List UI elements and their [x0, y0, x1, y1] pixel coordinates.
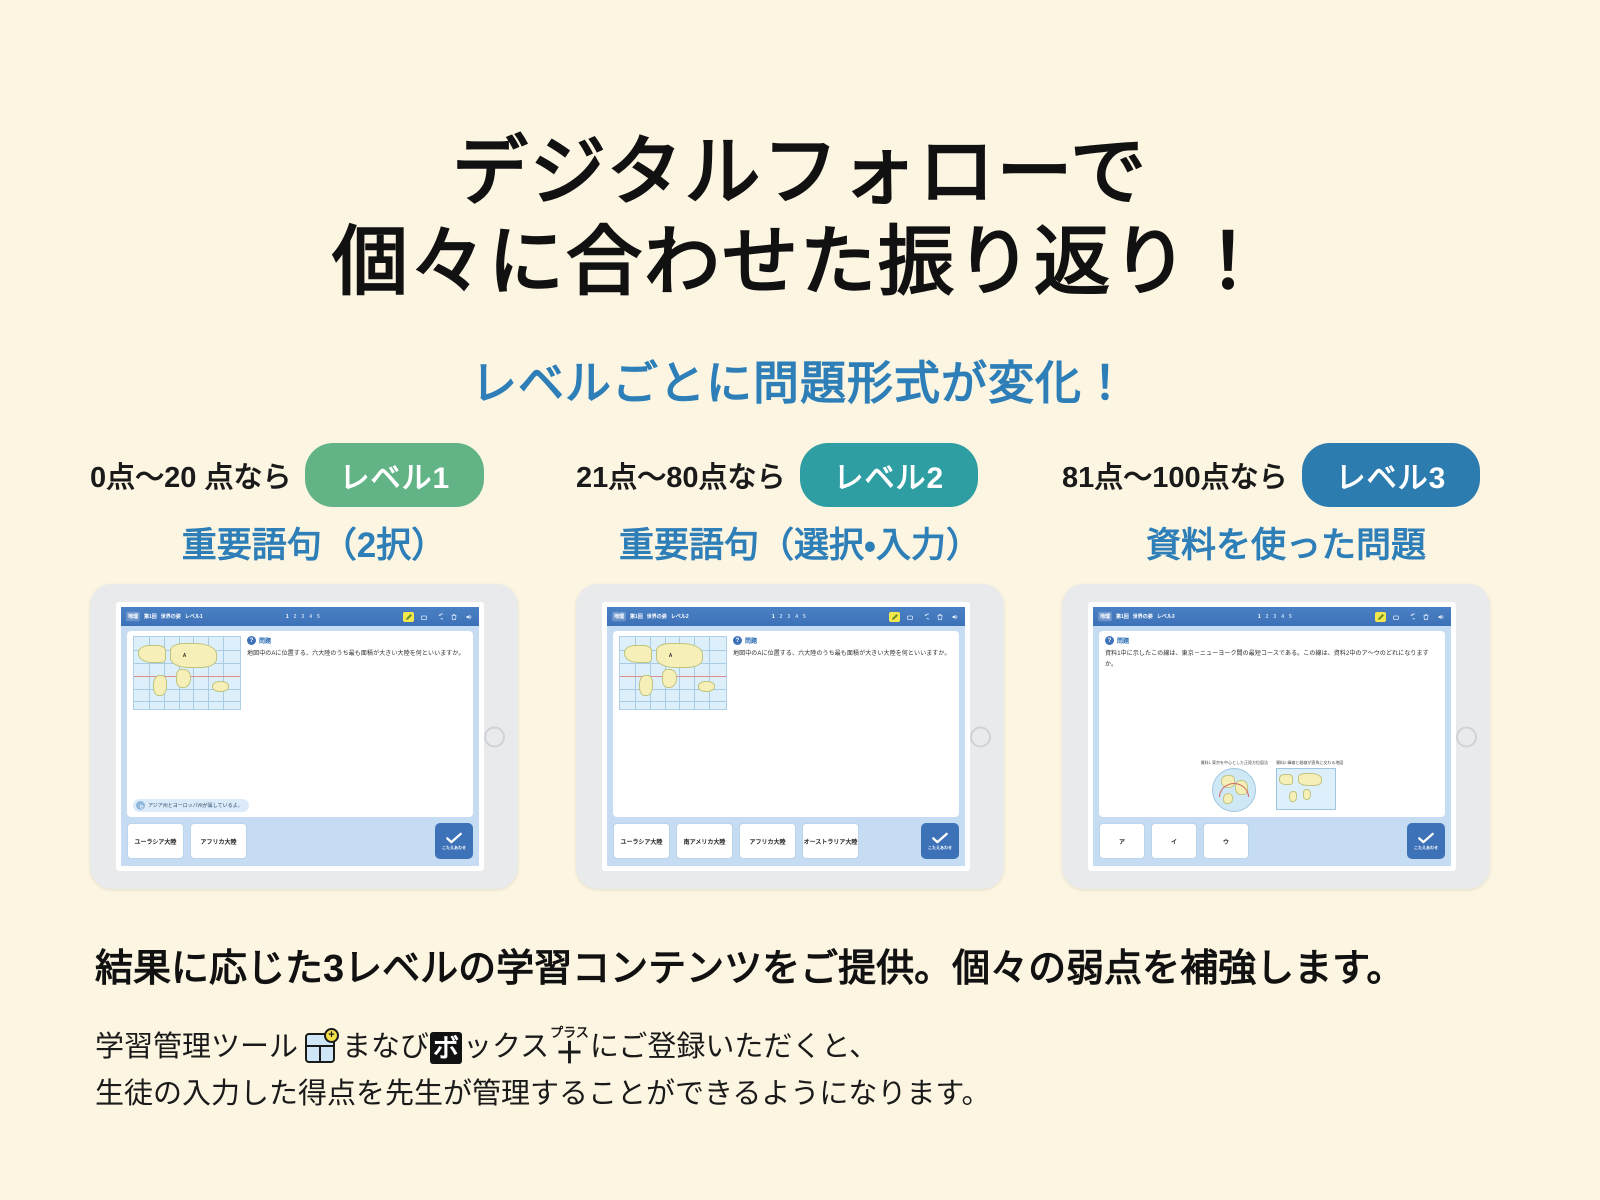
level-badge-row-1: 0点〜20 点なら レベル1: [90, 447, 538, 503]
brand-box-rest: ックス: [463, 1024, 549, 1071]
brand-box-initial: ボ: [430, 1032, 462, 1064]
toolbar-subject-1: 地理: [126, 612, 140, 621]
page-number[interactable]: 2: [294, 614, 297, 620]
answer-option[interactable]: オーストラリア大陸: [802, 823, 859, 859]
reference-figures-3: 資料1 東京を中心とした正距方位図法 資料2 緯線と経線が直角に交わる地図: [1105, 760, 1439, 812]
toolbar-chapter-3: 世界の姿: [1133, 613, 1153, 620]
submit-answer-button-2[interactable]: こたえあわせ: [921, 823, 959, 859]
summary-statement: 結果に応じた3レベルの学習コンテンツをご提供。個々の弱点を補強します。: [95, 937, 1600, 992]
answer-option[interactable]: ウ: [1203, 823, 1249, 859]
level-badge-2: レベル2: [800, 443, 979, 507]
page-subtitle: レベルごとに問題形式が変化！: [0, 347, 1600, 413]
hand-icon: [136, 801, 145, 810]
world-map-figure-1: A: [133, 636, 241, 710]
level-badge-row-2: 21点〜80点なら レベル2: [576, 447, 1024, 503]
brand-plus: ＋: [555, 1040, 584, 1069]
tablet-screen-1: 地理 第1回 世界の姿 レベル1 1 2 3 4 5: [116, 602, 484, 871]
question-text-3: 資料1中に示したこの線は、東京－ニューヨーク間の最短コースである。この線は、資料…: [1105, 649, 1439, 670]
pen-icon[interactable]: [1375, 612, 1386, 622]
level-badge-1: レベル1: [305, 443, 484, 507]
submit-answer-button-3[interactable]: こたえあわせ: [1407, 823, 1445, 859]
page-number[interactable]: 4: [1281, 614, 1284, 620]
tablet-screen-3: 地理 第1回 世界の姿 レベル3 1 2 3 4 5: [1088, 602, 1456, 871]
brand-manabi: まなび: [342, 1024, 429, 1071]
question-text-1: 地図中のAに位置する、六大陸のうち最も面積が大きい大陸を何といいますか。: [247, 649, 467, 660]
note-text-before: 学習管理ツール: [95, 1024, 298, 1071]
eraser-icon[interactable]: [418, 612, 429, 622]
app-toolbar-1: 地理 第1回 世界の姿 レベル1 1 2 3 4 5: [121, 607, 479, 626]
map-point-label-1: A: [183, 653, 187, 659]
tablet-mockup-1: 地理 第1回 世界の姿 レベル1 1 2 3 4 5: [90, 584, 518, 889]
page-indicator-3[interactable]: 1 2 3 4 5: [1180, 614, 1370, 620]
question-label-2: 問題: [745, 636, 757, 645]
azimuthal-map-icon: [1212, 768, 1256, 812]
page-number[interactable]: 1: [286, 614, 289, 620]
registration-note: 学習管理ツール + まなび ボ ックス プラス ＋ にご登録いただくと、 生徒の…: [95, 1024, 1600, 1118]
question-board-3: ? 問題 資料1中に示したこの線は、東京－ニューヨーク間の最短コースである。この…: [1099, 631, 1445, 817]
hint-text-1: アジア州とヨーロッパ州が属しているよ。: [148, 802, 243, 809]
figure-caption-1: 資料1 東京を中心とした正距方位図法: [1201, 760, 1268, 766]
level-content-title-3: 資料を使った問題: [1062, 517, 1510, 568]
toolbar-subject-2: 地理: [612, 612, 626, 621]
page-number[interactable]: 3: [787, 614, 790, 620]
question-mark-icon: ?: [733, 636, 742, 645]
toolbar-level-1: レベル1: [185, 613, 203, 620]
registration-note-line-1: 学習管理ツール + まなび ボ ックス プラス ＋ にご登録いただくと、: [95, 1024, 1600, 1071]
world-map-figure-2: A: [619, 636, 727, 710]
page-indicator-2[interactable]: 1 2 3 4 5: [694, 614, 884, 620]
answer-option[interactable]: ユーラシア大陸: [127, 823, 184, 859]
page-number[interactable]: 3: [301, 614, 304, 620]
audio-icon[interactable]: [463, 612, 474, 622]
answer-option[interactable]: 南アメリカ大陸: [676, 823, 733, 859]
app-toolbar-3: 地理 第1回 世界の姿 レベル3 1 2 3 4 5: [1093, 607, 1451, 626]
answer-option[interactable]: イ: [1151, 823, 1197, 859]
pen-icon[interactable]: [403, 612, 414, 622]
toolbar-chapter-2: 世界の姿: [647, 613, 667, 620]
tablet-mockup-3: 地理 第1回 世界の姿 レベル3 1 2 3 4 5: [1062, 584, 1490, 889]
question-board-1: A ? 問題 地図中のAに位置する、六大陸のうち最も面積が大きい大陸を何といいま…: [127, 631, 473, 817]
page-title-line-1: デジタルフォローで: [0, 128, 1600, 218]
answer-option[interactable]: ア: [1099, 823, 1145, 859]
level-column-3: 81点〜100点なら レベル3 資料を使った問題 地理 第1回 世界の姿 レベル…: [1062, 447, 1510, 889]
page-number[interactable]: 5: [317, 614, 320, 620]
note-text-after: にご登録いただくと、: [590, 1024, 878, 1071]
page-number[interactable]: 5: [803, 614, 806, 620]
question-text-2: 地図中のAに位置する、六大陸のうち最も面積が大きい大陸を何といいますか。: [733, 649, 953, 660]
question-mark-icon: ?: [1105, 636, 1114, 645]
answer-options-2: ユーラシア大陸 南アメリカ大陸 アフリカ大陸 オーストラリア大陸 こたえあわせ: [607, 817, 965, 866]
toolbar-unit-1: 第1回: [144, 613, 157, 620]
manabi-box-icon: +: [303, 1031, 337, 1065]
toolbar-chapter-1: 世界の姿: [161, 613, 181, 620]
app-toolbar-2: 地理 第1回 世界の姿 レベル2 1 2 3 4 5: [607, 607, 965, 626]
submit-label-1: こたえあわせ: [442, 845, 466, 851]
answer-options-3: ア イ ウ こたえあわせ: [1093, 817, 1451, 866]
audio-icon[interactable]: [1435, 612, 1446, 622]
submit-label-2: こたえあわせ: [928, 845, 952, 851]
trash-icon[interactable]: [1420, 612, 1431, 622]
pen-icon[interactable]: [889, 612, 900, 622]
undo-icon[interactable]: [919, 612, 930, 622]
toolbar-subject-3: 地理: [1098, 612, 1112, 621]
audio-icon[interactable]: [949, 612, 960, 622]
figure-2: 資料2 緯線と経線が直角に交わる地図: [1276, 760, 1343, 812]
figure-1: 資料1 東京を中心とした正距方位図法: [1201, 760, 1268, 812]
check-icon: [931, 832, 949, 844]
mercator-map-icon: [1276, 768, 1336, 810]
question-board-2: A ? 問題 地図中のAに位置する、六大陸のうち最も面積が大きい大陸を何といいま…: [613, 631, 959, 817]
eraser-icon[interactable]: [1390, 612, 1401, 622]
score-range-label-3: 81点〜100点なら: [1062, 454, 1288, 496]
hint-bar-1: アジア州とヨーロッパ州が属しているよ。: [133, 799, 249, 812]
page-number[interactable]: 1: [1258, 614, 1261, 620]
registration-note-line-2: 生徒の入力した得点を先生が管理することができるようになります。: [95, 1071, 1600, 1118]
page-title-line-2: 個々に合わせた振り返り！: [0, 218, 1600, 308]
tablet-mockup-2: 地理 第1回 世界の姿 レベル2 1 2 3 4 5: [576, 584, 1004, 889]
level-content-title-2: 重要語句（選択・入力）: [576, 517, 1024, 568]
figure-caption-2: 資料2 緯線と経線が直角に交わる地図: [1276, 760, 1343, 766]
map-point-label-2: A: [669, 653, 673, 659]
trash-icon[interactable]: [934, 612, 945, 622]
page-number[interactable]: 2: [1266, 614, 1269, 620]
page-number[interactable]: 1: [772, 614, 775, 620]
score-range-label-2: 21点〜80点なら: [576, 454, 786, 496]
submit-label-3: こたえあわせ: [1414, 845, 1438, 851]
toolbar-level-3: レベル3: [1157, 613, 1175, 620]
page-number[interactable]: 4: [309, 614, 312, 620]
page-indicator-1[interactable]: 1 2 3 4 5: [208, 614, 398, 620]
trash-icon[interactable]: [448, 612, 459, 622]
answer-option[interactable]: アフリカ大陸: [190, 823, 247, 859]
tablet-screen-2: 地理 第1回 世界の姿 レベル2 1 2 3 4 5: [602, 602, 970, 871]
toolbar-unit-3: 第1回: [1116, 613, 1129, 620]
page-number[interactable]: 2: [780, 614, 783, 620]
undo-icon[interactable]: [433, 612, 444, 622]
answer-option[interactable]: ユーラシア大陸: [613, 823, 670, 859]
answer-option[interactable]: アフリカ大陸: [739, 823, 796, 859]
submit-answer-button-1[interactable]: こたえあわせ: [435, 823, 473, 859]
check-icon: [1417, 832, 1435, 844]
level-badge-3: レベル3: [1302, 443, 1481, 507]
level-column-1: 0点〜20 点なら レベル1 重要語句（2択） 地理 第1回 世界の姿 レベル1…: [90, 447, 538, 889]
page-title: デジタルフォローで 個々に合わせた振り返り！: [0, 0, 1600, 307]
answer-options-1: ユーラシア大陸 アフリカ大陸 こたえあわせ: [121, 817, 479, 866]
brand-plus-group: プラス ＋: [550, 1026, 589, 1069]
eraser-icon[interactable]: [904, 612, 915, 622]
question-label-1: 問題: [259, 636, 271, 645]
toolbar-level-2: レベル2: [671, 613, 689, 620]
question-label-3: 問題: [1117, 636, 1129, 645]
page-number[interactable]: 5: [1289, 614, 1292, 620]
level-content-title-1: 重要語句（2択）: [90, 517, 538, 568]
question-mark-icon: ?: [247, 636, 256, 645]
toolbar-unit-2: 第1回: [630, 613, 643, 620]
page-number[interactable]: 4: [795, 614, 798, 620]
score-range-label-1: 0点〜20 点なら: [90, 454, 291, 496]
undo-icon[interactable]: [1405, 612, 1416, 622]
level-column-2: 21点〜80点なら レベル2 重要語句（選択・入力） 地理 第1回 世界の姿 レ…: [576, 447, 1024, 889]
page-number[interactable]: 3: [1273, 614, 1276, 620]
level-badge-row-3: 81点〜100点なら レベル3: [1062, 447, 1510, 503]
level-columns: 0点〜20 点なら レベル1 重要語句（2択） 地理 第1回 世界の姿 レベル1…: [0, 447, 1600, 889]
check-icon: [445, 832, 463, 844]
